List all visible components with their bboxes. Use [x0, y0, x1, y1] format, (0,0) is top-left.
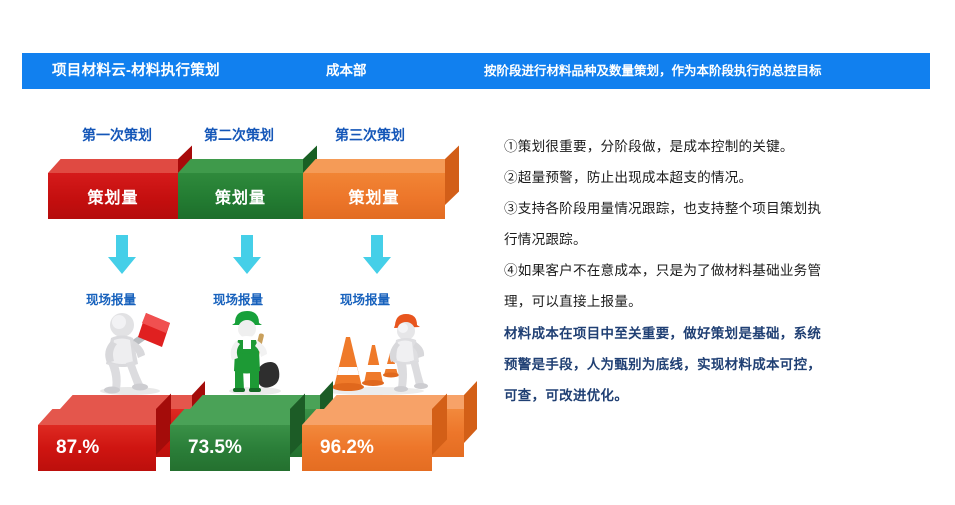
worker-with-shovel-icon — [203, 307, 323, 395]
percentage-bar-1-bg-top — [60, 395, 205, 409]
percentage-bar-2-top — [170, 409, 304, 425]
percentage-bar-2-value: 73.5% — [170, 425, 290, 471]
banner-department: 成本部 — [326, 53, 367, 89]
note-emphasis-line-2: 预警是手段，人为甄别为底线，实现材料成本可控， — [504, 349, 924, 380]
note-line-3: ③支持各阶段用量情况跟踪，也支持整个项目策划执 — [504, 194, 924, 225]
stage-label-1: 第一次策划 — [82, 125, 152, 145]
down-arrow-icon-3 — [362, 235, 392, 275]
percentage-bar-3-bg-side — [464, 381, 477, 443]
worker-with-hammer-icon — [78, 307, 198, 395]
header-banner: 项目材料云-材料执行策划 成本部 按阶段进行材料品种及数量策划，作为本阶段执行的… — [22, 53, 930, 89]
slide-root: 项目材料云-材料执行策划 成本部 按阶段进行材料品种及数量策划，作为本阶段执行的… — [0, 0, 955, 505]
worker-with-traffic-cones-icon — [312, 307, 432, 395]
banner-title: 项目材料云-材料执行策划 — [52, 53, 220, 89]
plan-box-1-label: 策划量 — [48, 173, 178, 219]
note-line-6: 理，可以直接上报量。 — [504, 287, 924, 318]
percentage-bar-2-fill: 73.5% — [170, 425, 290, 471]
note-line-1: ①策划很重要，分阶段做，是成本控制的关键。 — [504, 132, 924, 163]
plan-box-row: 策划量 策划量 策划量 — [48, 159, 460, 223]
down-arrow-icon-1 — [107, 235, 137, 275]
percentage-bar-1-value: 87.% — [38, 425, 156, 471]
plan-box-3-label: 策划量 — [303, 173, 445, 219]
plan-box-2-label: 策划量 — [178, 173, 303, 219]
plan-box-1-top-face — [48, 159, 191, 173]
plan-box-3[interactable]: 策划量 — [303, 173, 445, 219]
percentage-bar-3-top — [302, 409, 446, 425]
plan-box-2[interactable]: 策划量 — [178, 173, 303, 219]
percentage-bar-row: 87.% 73.5% — [30, 395, 470, 475]
stage-label-3: 第三次策划 — [335, 125, 405, 145]
percentage-bar-3-value: 96.2% — [302, 425, 432, 471]
report-label-3: 现场报量 — [340, 289, 390, 308]
stage-label-2: 第二次策划 — [204, 125, 274, 145]
plan-box-2-top-face — [178, 159, 316, 173]
percentage-bar-1-top — [38, 409, 170, 425]
report-label-1: 现场报量 — [86, 289, 136, 308]
percentage-bar-1-fill: 87.% — [38, 425, 156, 471]
down-arrow-icon-2 — [232, 235, 262, 275]
percentage-bar-2-bg-top — [190, 395, 333, 409]
report-label-2: 现场报量 — [213, 289, 263, 308]
percentage-bar-3-bg-top — [324, 395, 477, 409]
plan-box-1[interactable]: 策划量 — [48, 173, 178, 219]
banner-description: 按阶段进行材料品种及数量策划，作为本阶段执行的总控目标 — [484, 53, 822, 89]
notes-panel: ①策划很重要，分阶段做，是成本控制的关键。 ②超量预警，防止出现成本超支的情况。… — [504, 132, 924, 411]
plan-box-3-top-face — [303, 159, 458, 173]
diagram-panel: 第一次策划 第二次策划 第三次策划 策划量 策划量 策划量 — [0, 95, 480, 505]
note-emphasis-line-1: 材料成本在项目中至关重要，做好策划是基础，系统 — [504, 318, 924, 349]
note-line-4: 行情况跟踪。 — [504, 225, 924, 256]
note-emphasis-line-3: 可查，可改进优化。 — [504, 380, 924, 411]
note-line-2: ②超量预警，防止出现成本超支的情况。 — [504, 163, 924, 194]
note-line-5: ④如果客户不在意成本，只是为了做材料基础业务管 — [504, 256, 924, 287]
percentage-bar-3-fill: 96.2% — [302, 425, 432, 471]
plan-box-3-side-face — [445, 145, 459, 205]
